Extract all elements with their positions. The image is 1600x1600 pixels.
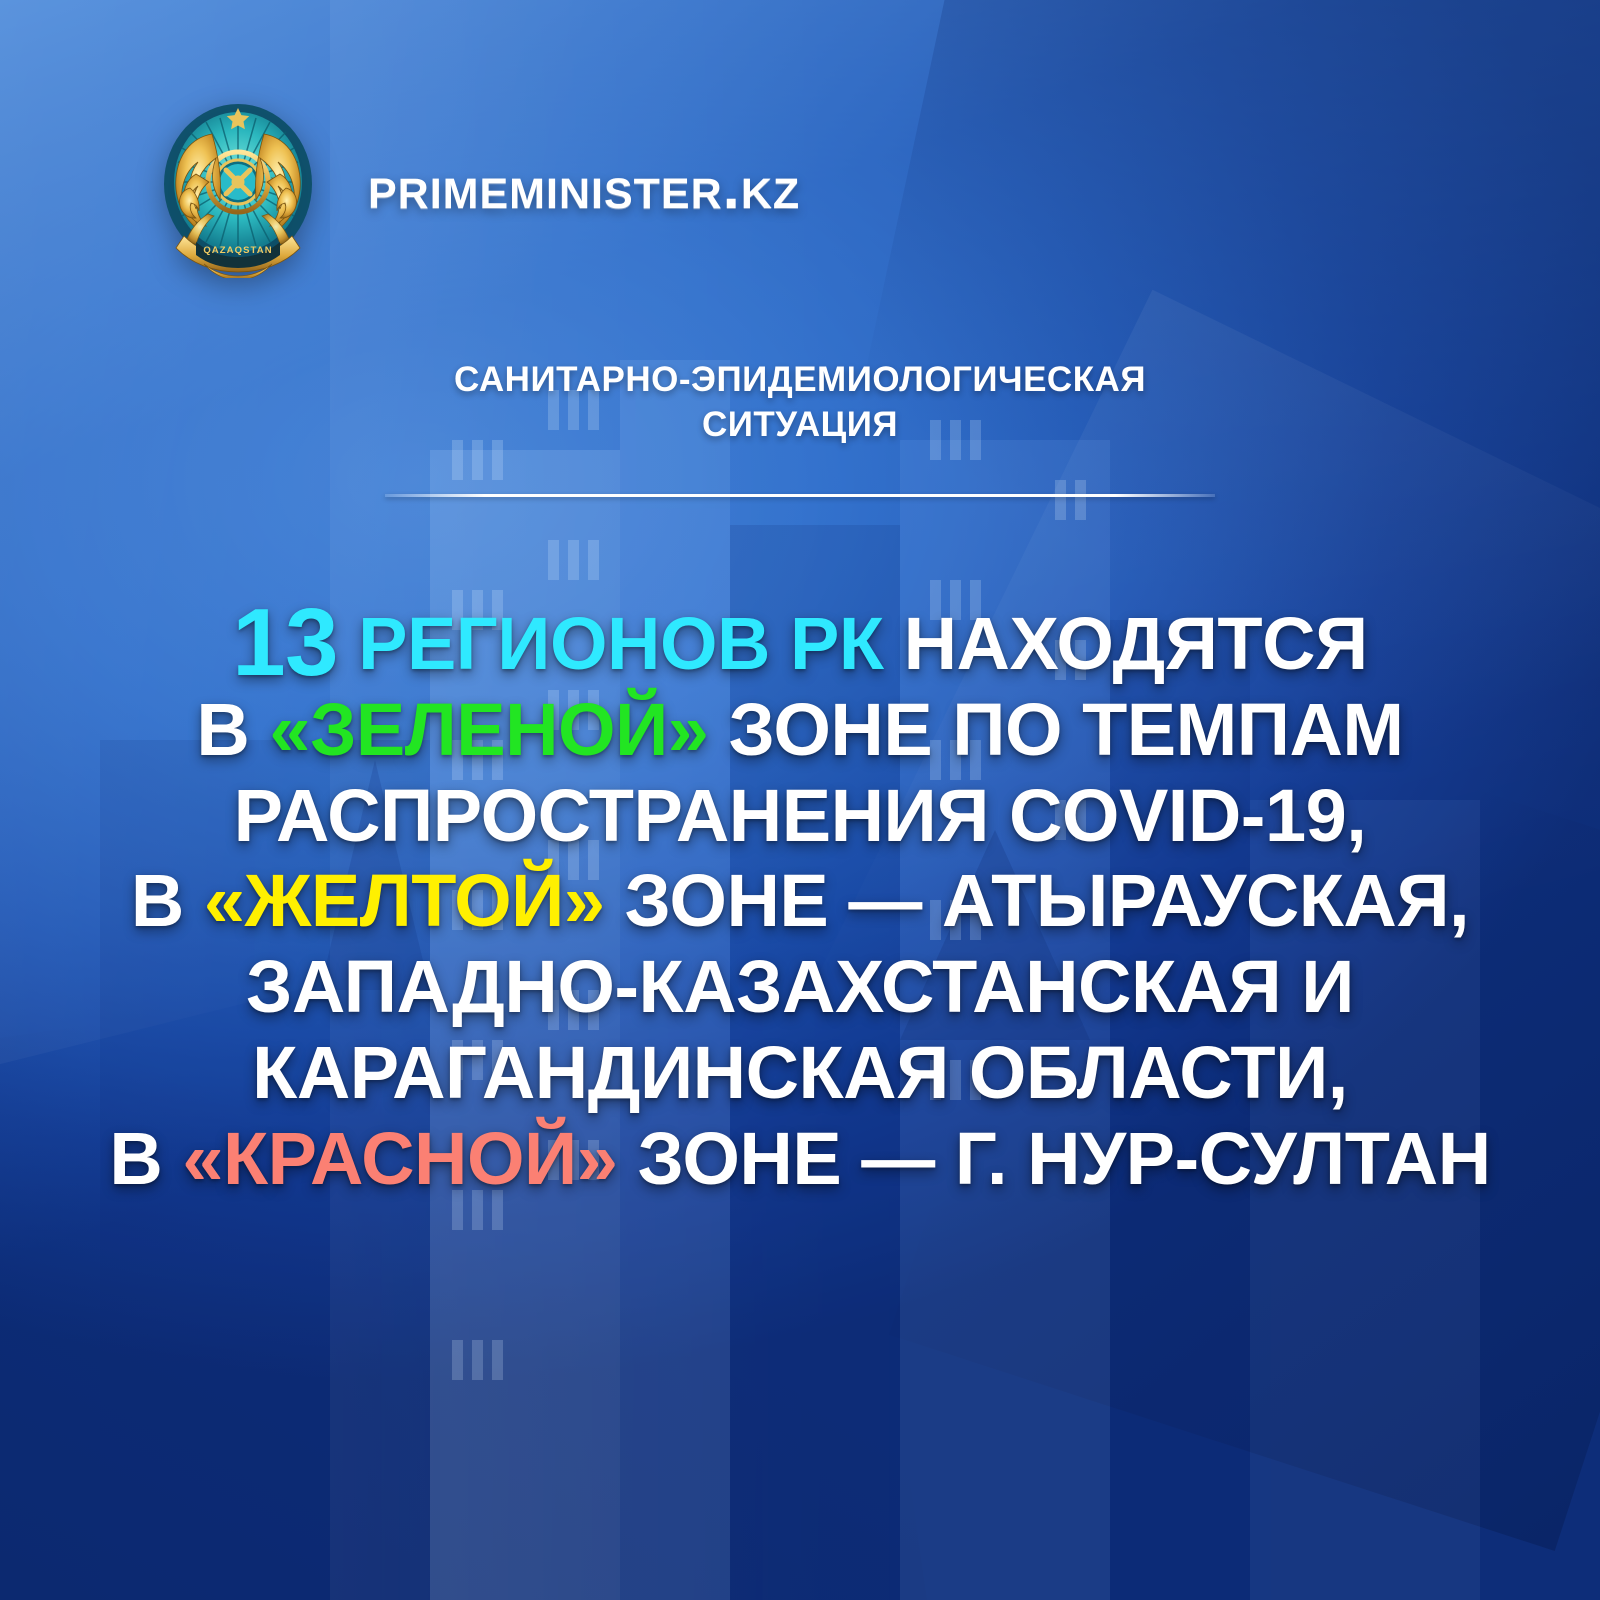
headline-verb: НАХОДЯТСЯ	[904, 602, 1368, 685]
emblem-banner-text: QAZAQSTAN	[203, 245, 272, 256]
headline-line-2: В «ЗЕЛЕНОЙ» ЗОНЕ ПО ТЕМПАМ	[60, 687, 1540, 773]
headline-l7-suffix: ЗОНЕ — Г. НУР-СУЛТАН	[637, 1117, 1490, 1200]
headline-l4-prefix: В	[131, 859, 184, 942]
subtitle-line-1: САНИТАРНО-ЭПИДЕМИОЛОГИЧЕСКАЯ	[0, 358, 1600, 403]
headline-line-7: В «КРАСНОЙ» ЗОНЕ — Г. НУР-СУЛТАН	[60, 1116, 1540, 1202]
headline: 13 РЕГИОНОВ РК НАХОДЯТСЯ В «ЗЕЛЕНОЙ» ЗОН…	[60, 600, 1540, 1202]
headline-l2-suffix: ЗОНЕ ПО ТЕМПАМ	[728, 688, 1403, 771]
page-subtitle: САНИТАРНО-ЭПИДЕМИОЛОГИЧЕСКАЯ СИТУАЦИЯ	[0, 358, 1600, 448]
headline-l4-suffix: ЗОНЕ — АТЫРАУСКАЯ,	[625, 859, 1470, 942]
red-zone-label: «КРАСНОЙ»	[182, 1117, 617, 1200]
yellow-zone-label: «ЖЕЛТОЙ»	[204, 859, 605, 942]
headline-line-3: РАСПРОСТРАНЕНИЯ COVID-19,	[60, 773, 1540, 859]
headline-line-6: КАРАГАНДИНСКАЯ ОБЛАСТИ,	[60, 1030, 1540, 1116]
divider-rule	[385, 494, 1215, 497]
subtitle-line-2: СИТУАЦИЯ	[0, 403, 1600, 448]
region-count: 13	[232, 589, 338, 696]
headline-line-5: ЗАПАДНО-КАЗАХСТАНСКАЯ И	[60, 944, 1540, 1030]
headline-l2-prefix: В	[196, 688, 249, 771]
headline-line-4: В «ЖЕЛТОЙ» ЗОНЕ — АТЫРАУСКАЯ,	[60, 858, 1540, 944]
site-header: QAZAQSTAN PrimeMinister.KZ	[150, 96, 800, 278]
green-zone-label: «ЗЕЛЕНОЙ»	[269, 688, 708, 771]
headline-line-1: 13 РЕГИОНОВ РК НАХОДЯТСЯ	[60, 600, 1540, 687]
headline-regions-label: РЕГИОНОВ РК	[358, 602, 883, 685]
poster-canvas: QAZAQSTAN PrimeMinister.KZ САНИТАРНО-ЭПИ…	[0, 0, 1600, 1600]
brand-title: PrimeMinister.KZ	[368, 152, 800, 223]
headline-l7-prefix: В	[109, 1117, 162, 1200]
kazakhstan-coat-of-arms-icon: QAZAQSTAN	[150, 96, 326, 278]
